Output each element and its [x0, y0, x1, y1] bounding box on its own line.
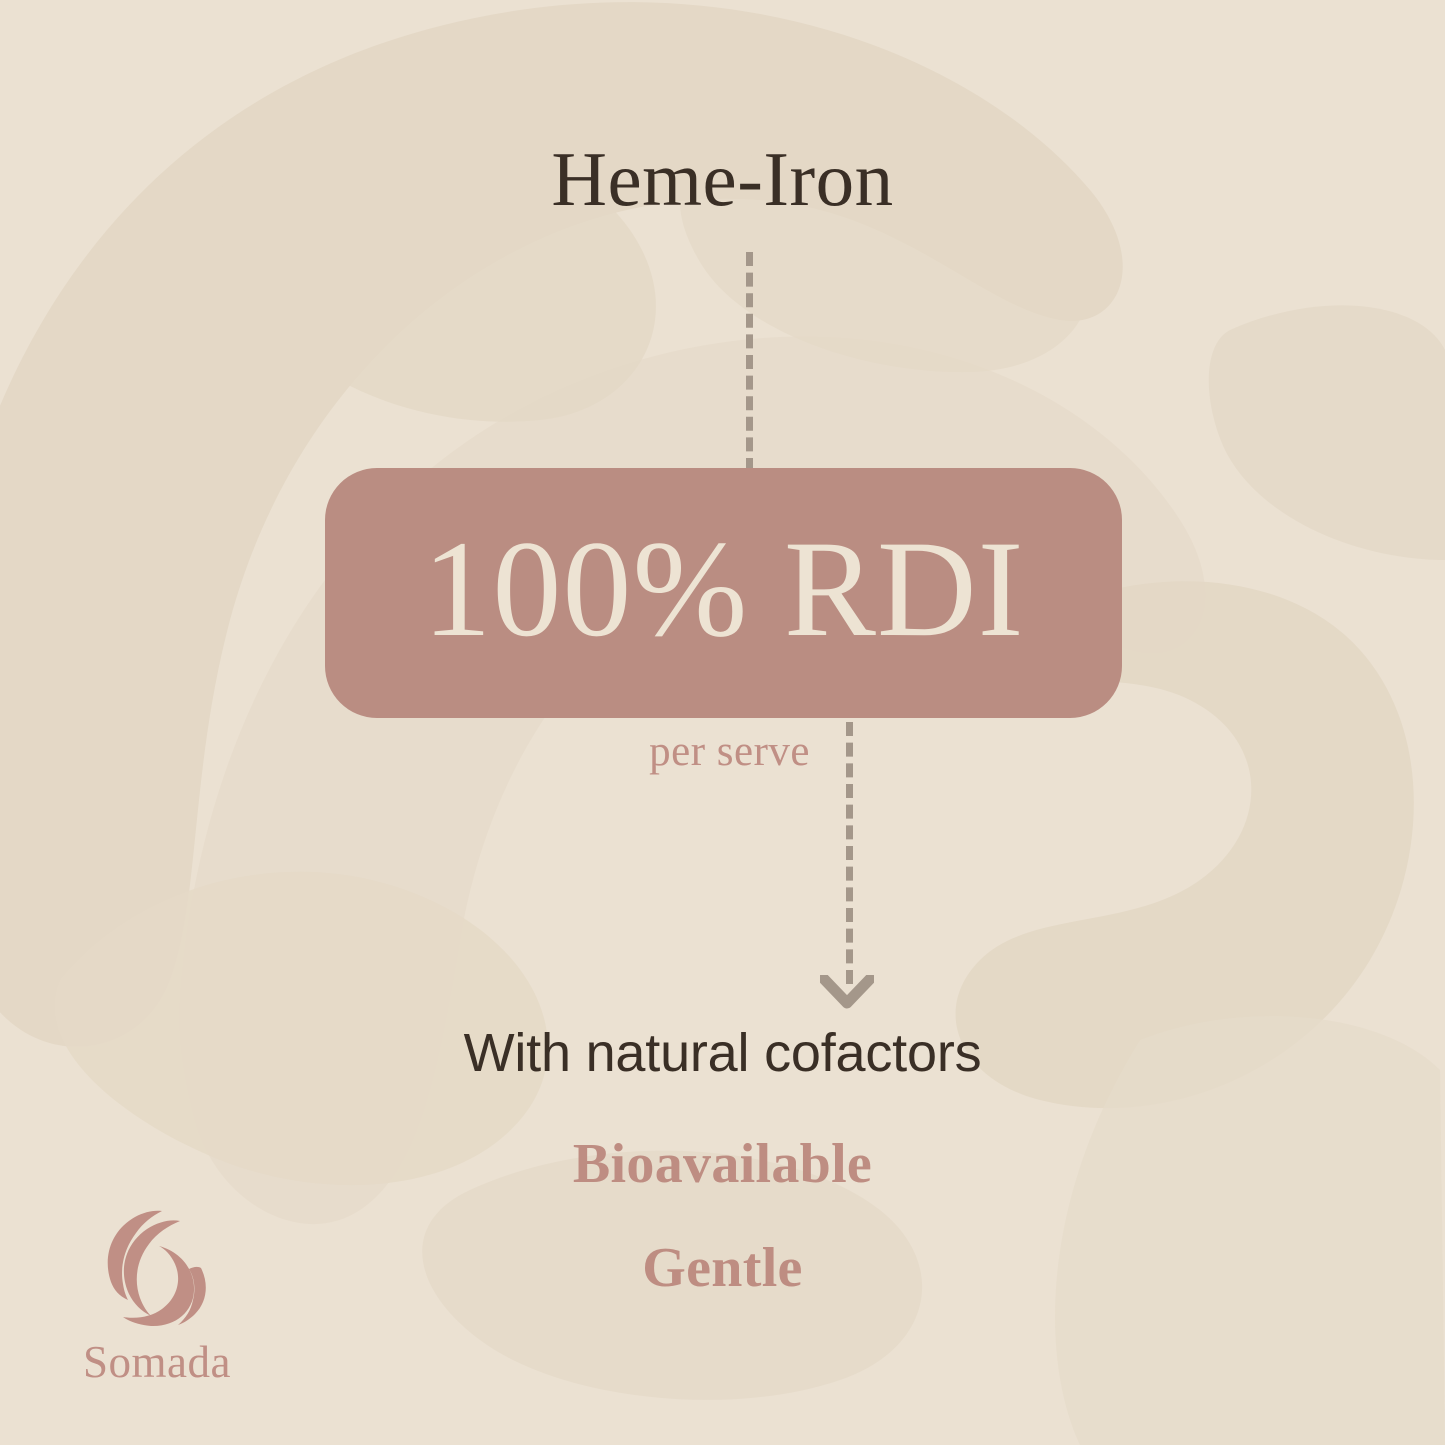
product-claim-card: Heme-Iron 100% RDI per serve With natura… — [0, 0, 1445, 1445]
benefit-item-bioavailable: Bioavailable — [0, 1136, 1445, 1192]
rdi-badge-value: 100% RDI — [422, 520, 1024, 658]
dashed-connector-top-icon — [746, 252, 753, 472]
brand-logo: Somada — [62, 1208, 252, 1385]
rdi-badge: 100% RDI — [325, 468, 1122, 718]
brand-wordmark: Somada — [62, 1340, 252, 1385]
arrow-down-icon — [820, 975, 874, 1011]
dashed-connector-bottom-icon — [846, 722, 853, 984]
cofactors-line: With natural cofactors — [0, 1026, 1445, 1080]
per-serve-caption: per serve — [498, 727, 810, 776]
page-title: Heme-Iron — [0, 141, 1445, 218]
somada-crescent-logo-icon — [102, 1208, 212, 1328]
